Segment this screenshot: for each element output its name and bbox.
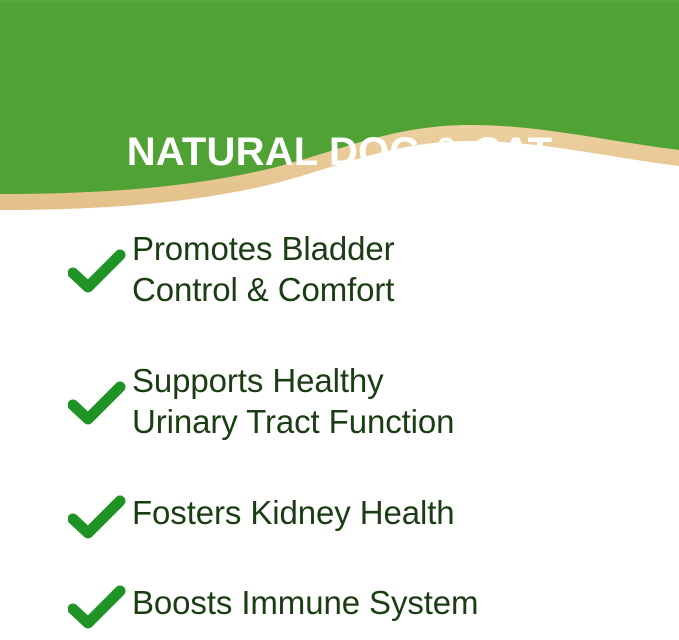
benefit-label: Fosters Kidney Health	[132, 492, 679, 533]
benefit-label: Supports Healthy Urinary Tract Function	[132, 360, 679, 442]
check-icon	[68, 228, 132, 294]
product-feature-graphic: NATURAL DOG & CAT UTI TREATMENT REMEDY P…	[0, 0, 679, 640]
benefits-list: Promotes Bladder Control & Comfort Suppo…	[0, 228, 679, 630]
header-top-hairline	[0, 0, 679, 2]
benefit-item: Supports Healthy Urinary Tract Function	[0, 360, 679, 442]
header-banner: NATURAL DOG & CAT UTI TREATMENT REMEDY	[0, 0, 679, 215]
page-title: NATURAL DOG & CAT UTI TREATMENT REMEDY	[0, 22, 679, 215]
benefit-item: Boosts Immune System	[0, 582, 679, 630]
benefit-item: Promotes Bladder Control & Comfort	[0, 228, 679, 310]
benefit-label: Boosts Immune System	[132, 582, 679, 623]
benefit-item: Fosters Kidney Health	[0, 492, 679, 540]
check-icon	[68, 492, 132, 540]
benefit-label: Promotes Bladder Control & Comfort	[132, 228, 679, 310]
title-line-1: NATURAL DOG & CAT	[0, 126, 679, 178]
check-icon	[68, 582, 132, 630]
check-icon	[68, 360, 132, 426]
